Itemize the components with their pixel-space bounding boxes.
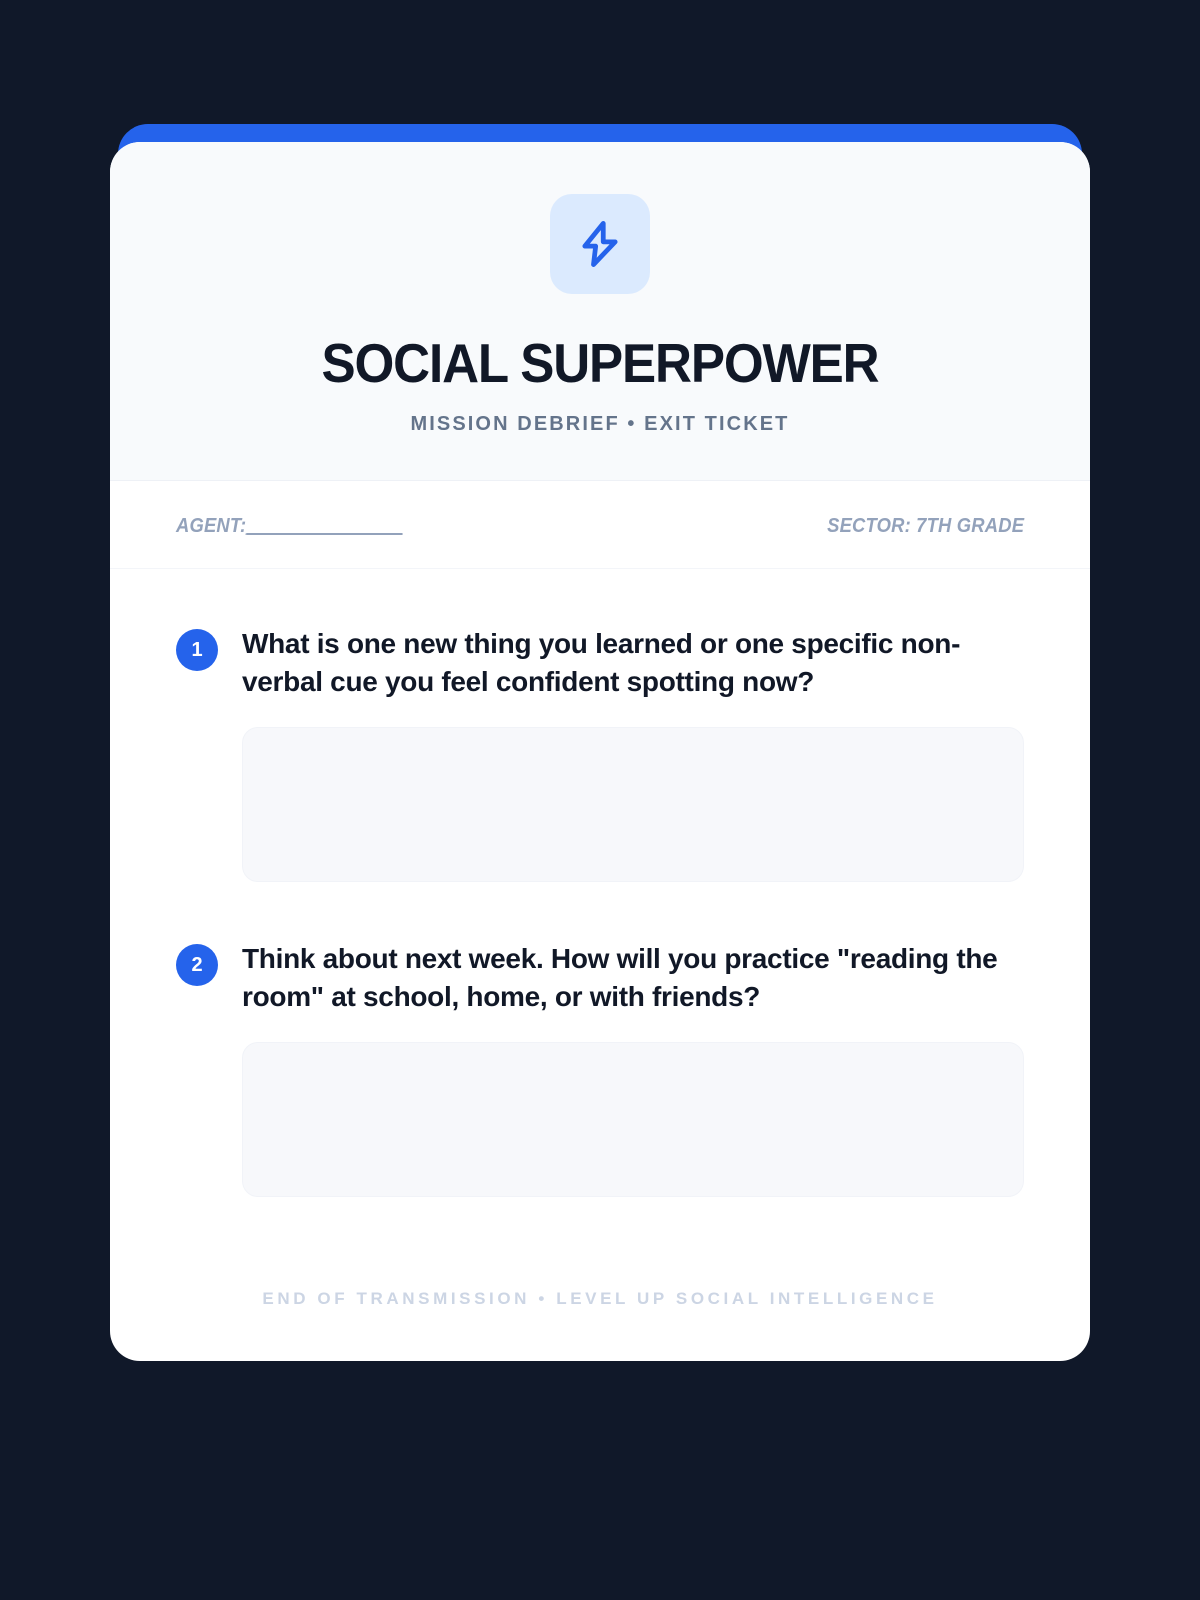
question-number-badge: 1 [176,629,218,671]
agent-blank-line[interactable]: _______________ [246,515,402,537]
answer-input-1[interactable] [242,727,1024,882]
question-header-1: 1 What is one new thing you learned or o… [176,625,1024,700]
brand-badge [550,194,650,294]
answer-input-2[interactable] [242,1042,1024,1197]
lightning-bolt-icon [574,218,626,270]
agent-name-field[interactable]: AGENT:_______________ [176,515,403,538]
page-title: SOCIAL SUPERPOWER [182,336,1019,391]
questions-list: 1 What is one new thing you learned or o… [110,569,1090,1197]
agent-label: AGENT: [176,515,246,537]
sector-label: SECTOR: 7TH GRADE [827,515,1024,538]
question-number-badge: 2 [176,944,218,986]
footer-tagline: END OF TRANSMISSION • LEVEL UP SOCIAL IN… [110,1255,1090,1361]
question-block-1: 1 What is one new thing you learned or o… [176,625,1024,882]
student-info-row: AGENT:_______________ SECTOR: 7TH GRADE [110,481,1090,569]
page-subtitle: MISSION DEBRIEF • EXIT TICKET [150,413,1050,436]
worksheet-sheet: SOCIAL SUPERPOWER MISSION DEBRIEF • EXIT… [110,124,1090,1361]
question-block-2: 2 Think about next week. How will you pr… [176,940,1024,1197]
question-header-2: 2 Think about next week. How will you pr… [176,940,1024,1015]
card-header: SOCIAL SUPERPOWER MISSION DEBRIEF • EXIT… [110,142,1090,481]
exit-ticket-card: SOCIAL SUPERPOWER MISSION DEBRIEF • EXIT… [110,142,1090,1361]
question-text: Think about next week. How will you prac… [242,940,1002,1015]
question-text: What is one new thing you learned or one… [242,625,1002,700]
